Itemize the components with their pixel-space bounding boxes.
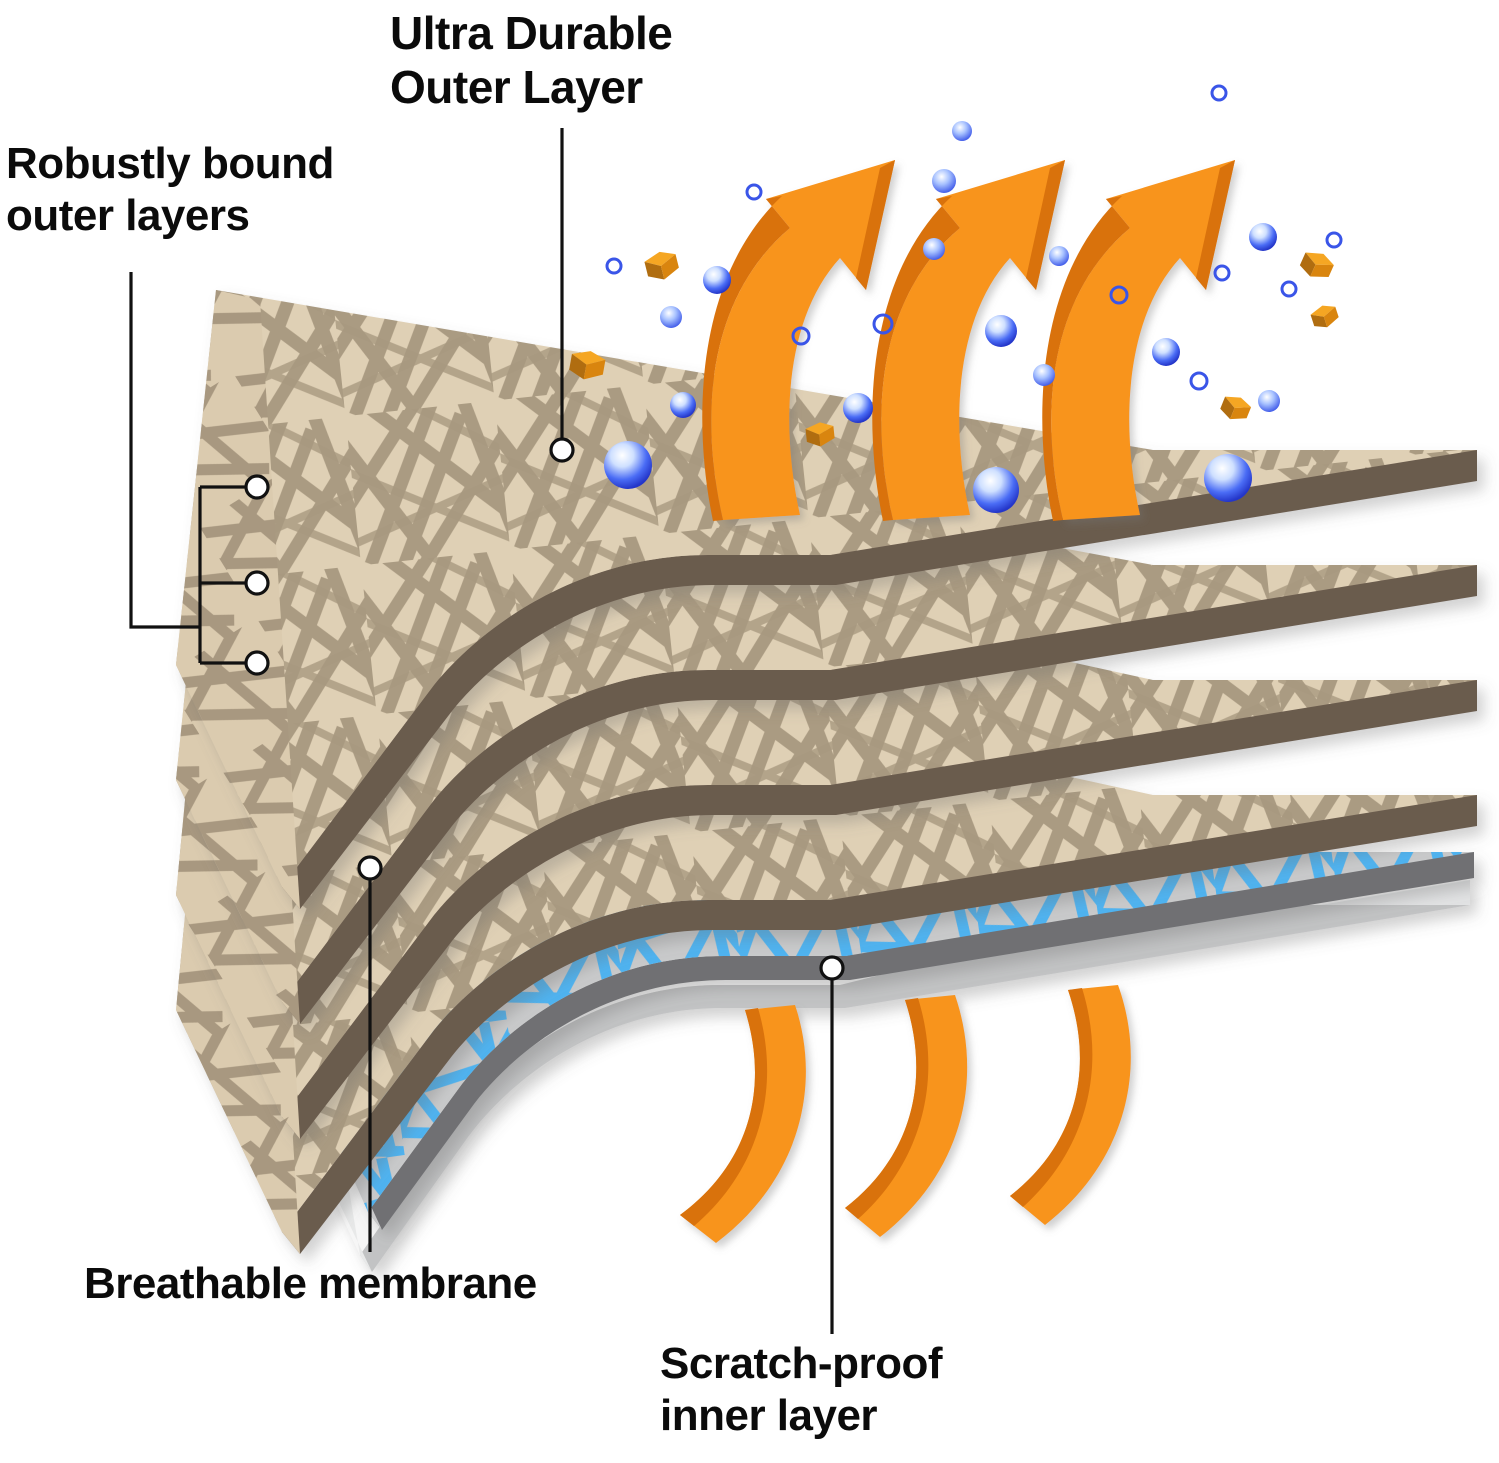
- label-robustly-bound-outer-layers: Robustly bound outer layers: [6, 138, 334, 242]
- dirt-cube: [643, 248, 681, 283]
- label-ultra-durable-outer-layer: Ultra Durable Outer Layer: [390, 6, 672, 115]
- dirt-cube: [1309, 302, 1341, 331]
- arrow-down-3: [1010, 985, 1131, 1225]
- label-scratch-proof-inner-layer: Scratch-proof inner layer: [660, 1338, 942, 1442]
- arrow-down-group: [680, 985, 1131, 1243]
- diagram-canvas: Ultra Durable Outer Layer Robustly bound…: [0, 0, 1499, 1463]
- callout-scratch-proof: [821, 957, 843, 1334]
- label-breathable-membrane: Breathable membrane: [84, 1258, 537, 1310]
- arrow-down-2: [845, 995, 967, 1237]
- arrow-down-1: [680, 1005, 806, 1243]
- dirt-cube: [1297, 247, 1336, 283]
- dirt-cube: [1218, 392, 1253, 425]
